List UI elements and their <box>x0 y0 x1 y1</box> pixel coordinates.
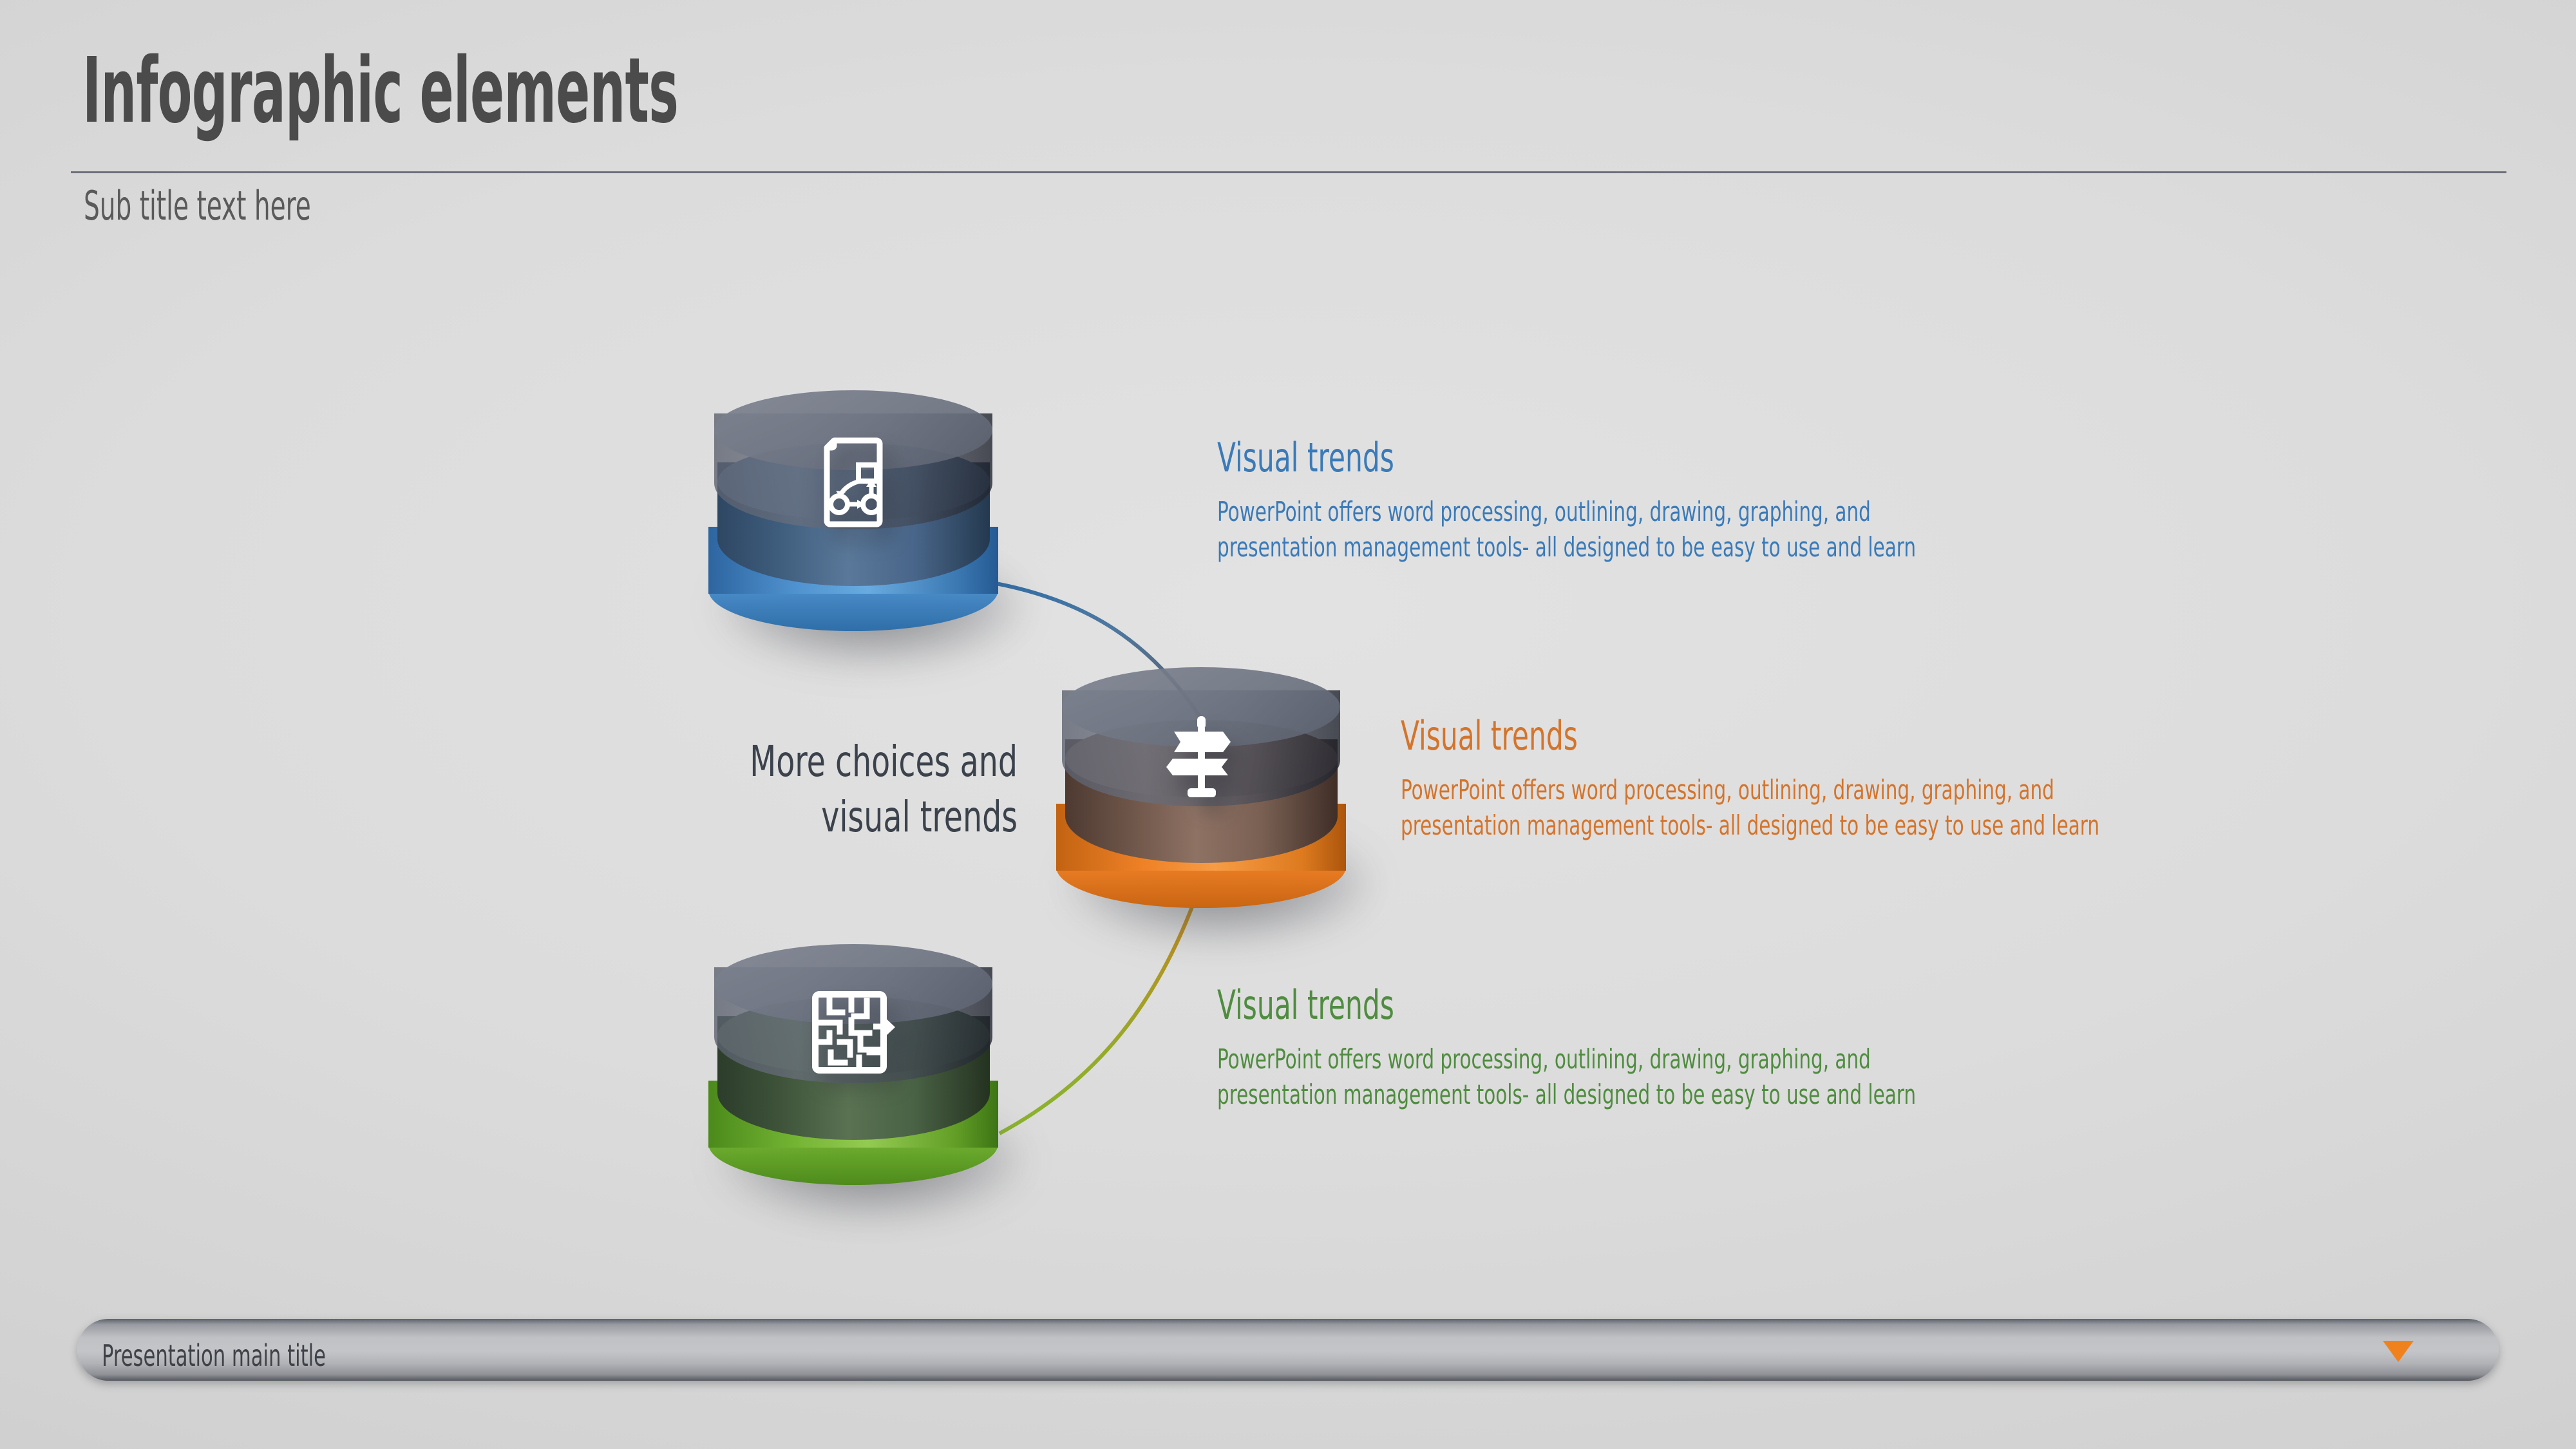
center-caption-line-2: visual trends <box>564 790 1018 845</box>
signpost-directions-icon <box>1160 714 1242 802</box>
document-flowchart-icon <box>815 437 892 531</box>
item-heading-green: Visual trends <box>1217 985 1795 1025</box>
footer-bar[interactable]: Presentation main title <box>77 1319 2499 1381</box>
infographic-stage: More choices and visual trends Visual tr… <box>0 0 2576 1449</box>
disc-orange[interactable] <box>1050 670 1352 927</box>
item-text-blue: Visual trends PowerPoint offers word pro… <box>1217 438 1977 565</box>
item-text-orange: Visual trends PowerPoint offers word pro… <box>1401 716 2161 843</box>
item-heading-orange: Visual trends <box>1401 716 1978 756</box>
item-text-green: Visual trends PowerPoint offers word pro… <box>1217 985 1977 1112</box>
item-body-green: PowerPoint offers word processing, outli… <box>1217 1042 1976 1112</box>
disc-green[interactable] <box>702 947 1005 1204</box>
item-heading-blue: Visual trends <box>1217 438 1795 478</box>
maze-exit-icon <box>811 990 895 1077</box>
item-body-blue: PowerPoint offers word processing, outli… <box>1217 495 1976 565</box>
item-body-orange: PowerPoint offers word processing, outli… <box>1401 773 2159 843</box>
chevron-down-icon[interactable] <box>2383 1341 2414 1362</box>
disc-blue[interactable] <box>702 393 1005 650</box>
center-caption-line-1: More choices and <box>564 734 1018 790</box>
center-caption: More choices and visual trends <box>451 734 1018 845</box>
footer-title: Presentation main title <box>102 1338 326 1373</box>
